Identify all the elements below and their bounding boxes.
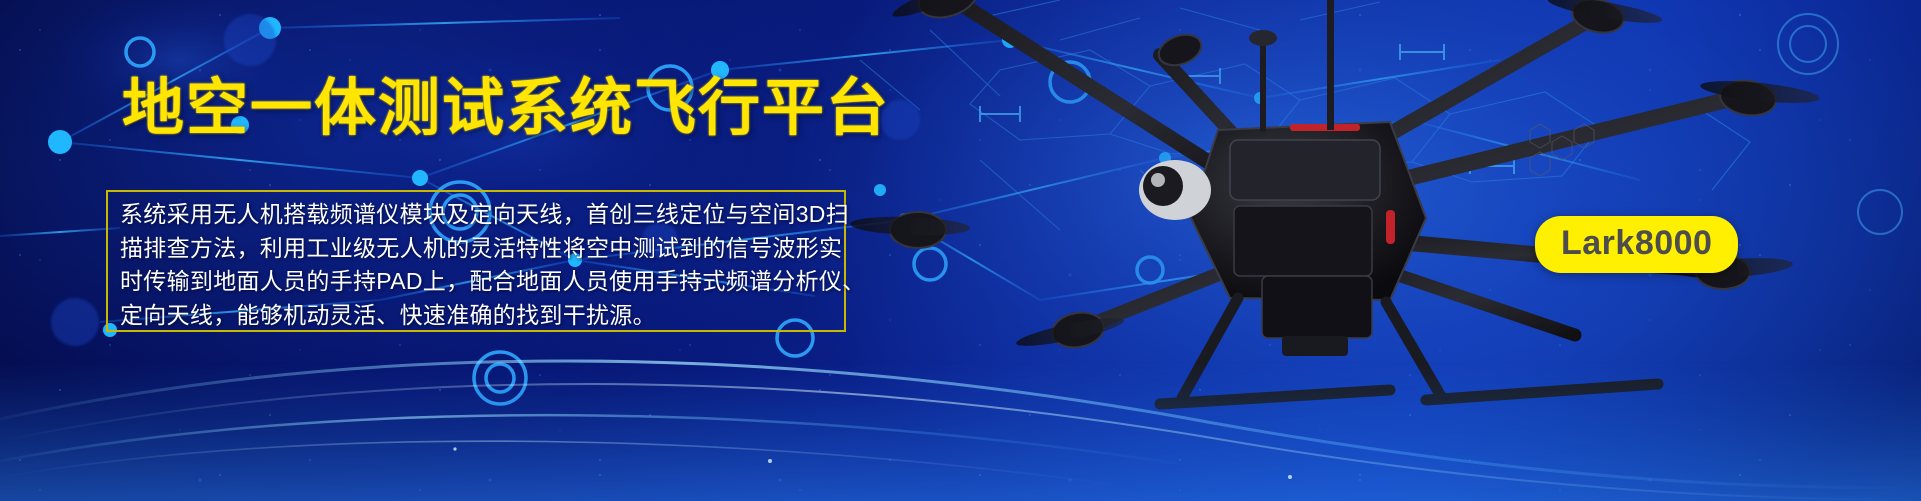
product-model-badge: Lark8000 — [1535, 216, 1738, 273]
description-line: 定向天线，能够机动灵活、快速准确的找到干扰源。 — [120, 299, 834, 333]
page-title: 地空一体测试系统飞行平台 — [122, 78, 890, 140]
description-line: 时传输到地面人员的手持PAD上，配合地面人员使用手持式频谱分析仪、 — [120, 265, 834, 299]
description-box: 系统采用无人机搭载频谱仪模块及定向天线，首创三线定位与空间3D扫 描排查方法，利… — [106, 190, 846, 332]
description-line: 描排查方法，利用工业级无人机的灵活特性将空中测试到的信号波形实 — [120, 232, 834, 266]
promo-banner: 地空一体测试系统飞行平台 系统采用无人机搭载频谱仪模块及定向天线，首创三线定位与… — [0, 0, 1921, 501]
description-line: 系统采用无人机搭载频谱仪模块及定向天线，首创三线定位与空间3D扫 — [120, 198, 834, 232]
